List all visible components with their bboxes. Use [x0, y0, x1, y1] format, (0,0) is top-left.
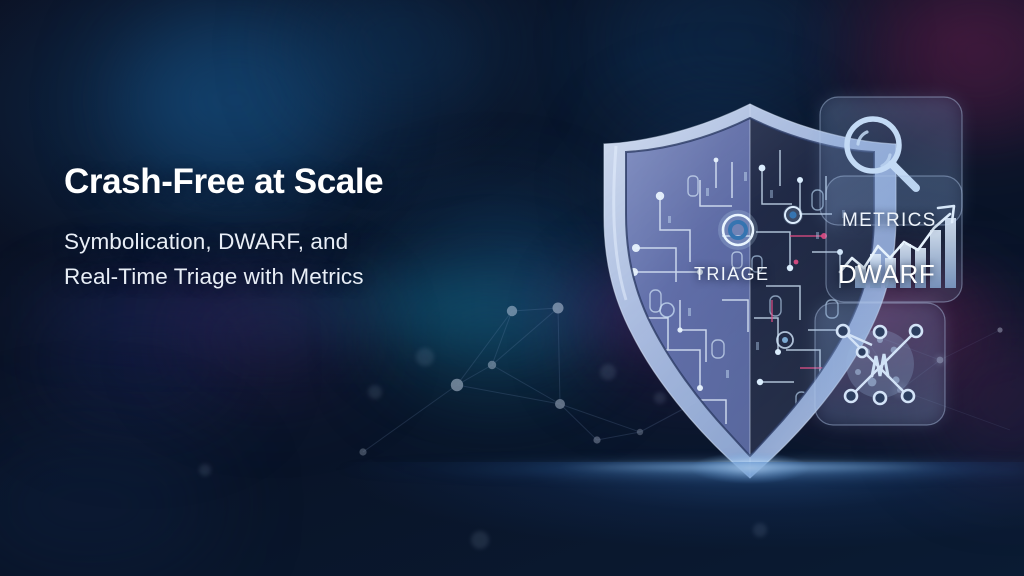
dwarf-label: DWARF: [838, 259, 935, 290]
subtitle-line-2: Real-Time Triage with Metrics: [64, 259, 514, 294]
network-card: [815, 303, 945, 425]
page-subtitle: Symbolication, DWARF, and Real-Time Tria…: [64, 224, 514, 294]
headline-block: Crash-Free at Scale Symbolication, DWARF…: [64, 160, 514, 294]
subtitle-line-1: Symbolication, DWARF, and: [64, 224, 514, 259]
bg-glow-blob: [760, 280, 990, 400]
bg-glow-blob: [880, 0, 1024, 130]
base-light-beam: [0, 452, 1024, 486]
shield-graphic: [604, 104, 896, 484]
bg-glow-blob: [0, 430, 220, 576]
bg-glow-blob: [390, 285, 600, 395]
base-light-beam-core: [560, 462, 960, 472]
bg-glow-blob: [930, 330, 1024, 470]
network-graph-icon: [837, 325, 922, 404]
shield-triage-label: TRIAGE: [694, 264, 769, 285]
circuit-node-icon-small: [783, 205, 803, 225]
bg-glow-blob: [590, 275, 790, 385]
circuit-node-icon: [718, 210, 758, 250]
page-title: Crash-Free at Scale: [64, 160, 514, 204]
circuit-board-pattern: [634, 160, 750, 424]
magnifier-card: [820, 97, 962, 225]
bg-glow-blob: [620, 0, 850, 120]
bg-glow-blob: [180, 290, 360, 390]
bg-glow-blob: [300, 0, 500, 120]
bg-glow-blob: [40, 300, 240, 420]
floor-glow: [0, 462, 1024, 576]
magnifier-icon: [847, 119, 916, 188]
metrics-chart-label: METRICS: [842, 210, 937, 232]
bg-glow-blob: [620, 110, 810, 260]
circuit-node-icon-small: [777, 332, 793, 348]
circuit-node-icon-small: [660, 303, 674, 317]
slide-canvas: TRIAGE METRICS DWARF Crash-Free at Scale…: [0, 0, 1024, 576]
network-constellation-decor: [199, 303, 1010, 550]
